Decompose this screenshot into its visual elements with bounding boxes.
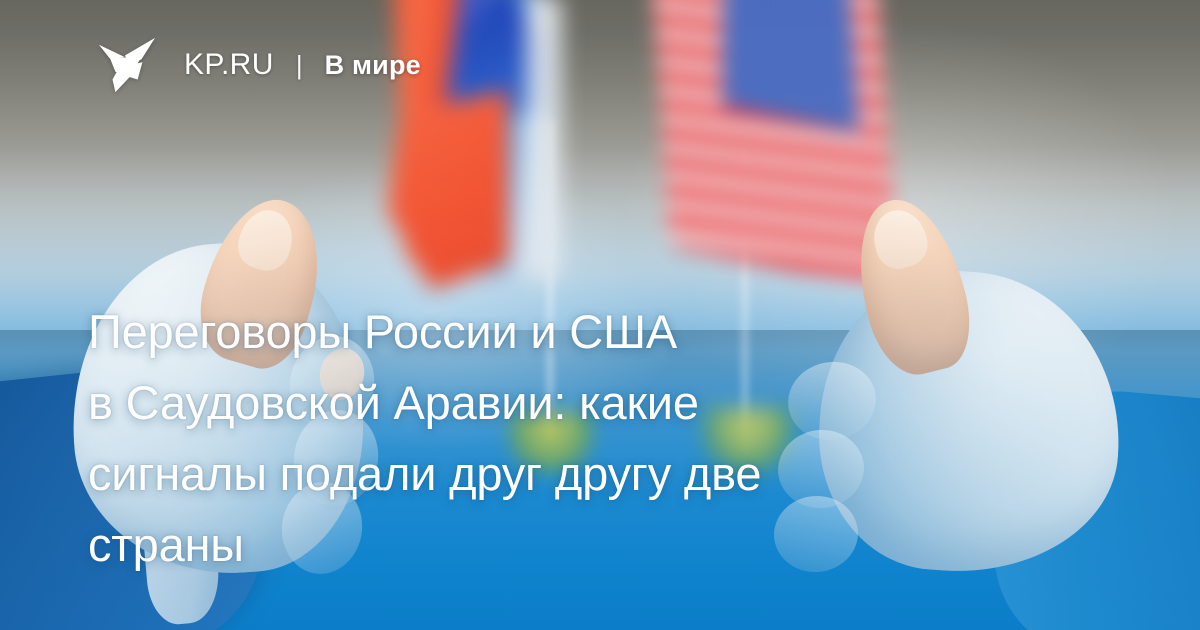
brand-header: KP.RU | В мире — [96, 36, 421, 94]
flag-white-band — [526, 0, 562, 275]
headline-title: Переговоры России и США в Саудовской Ара… — [88, 296, 1038, 580]
rubric-label[interactable]: В мире — [325, 50, 421, 81]
brand-name[interactable]: KP.RU — [184, 48, 274, 82]
social-share-card: KP.RU | В мире Переговоры России и США в… — [0, 0, 1200, 630]
header-separator: | — [296, 50, 303, 81]
swallow-bird-logo-icon[interactable] — [96, 36, 158, 94]
